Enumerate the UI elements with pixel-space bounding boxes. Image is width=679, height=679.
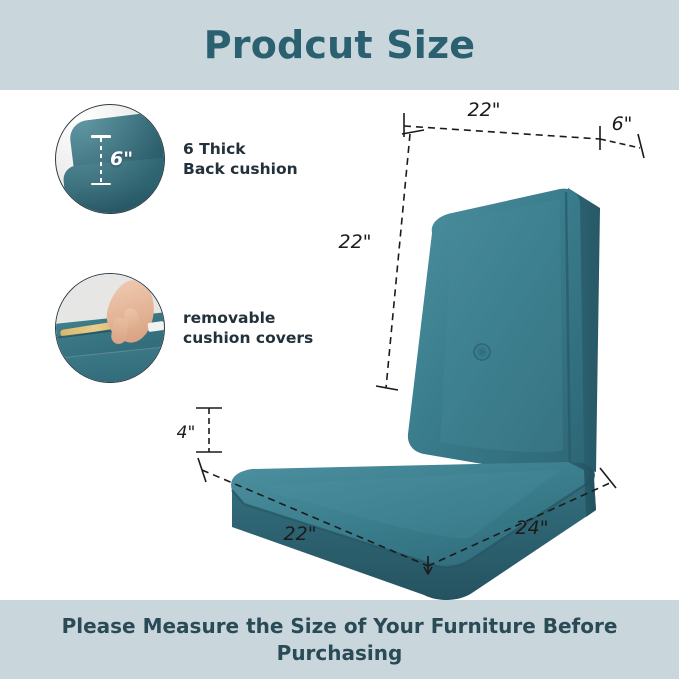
tick-back-height-bottom [376, 386, 398, 390]
dimension-label-seat-thickness: 4" [177, 423, 196, 443]
footer-banner: Please Measure the Size of Your Furnitur… [0, 600, 679, 679]
header-banner: Prodcut Size [0, 0, 679, 90]
dimension-label-back-height: 22" [339, 231, 372, 253]
dimension-label-seat-width: 24" [516, 517, 549, 539]
tick-seat-width-end [600, 468, 616, 488]
leader-back-height [386, 134, 410, 388]
infographic-page: Prodcut Size 6" 6 Thick Back cushion [0, 0, 679, 679]
back-cushion [408, 188, 600, 478]
dimension-label-back-thickness: 6" [612, 113, 633, 135]
tick-back-height-top [402, 130, 424, 134]
back-cushion-highlight [440, 200, 563, 452]
footer-message: Please Measure the Size of Your Furnitur… [0, 613, 679, 667]
page-title: Prodcut Size [204, 26, 476, 64]
leader-back-thickness [600, 139, 640, 148]
leader-back-top-width [404, 126, 600, 139]
product-illustration: 22" 6" 22" 4" 22" 24" [0, 90, 679, 600]
dimension-label-back-top-width: 22" [468, 99, 501, 121]
tick-back-thickness-right [638, 134, 644, 158]
dimension-label-seat-depth: 22" [284, 523, 317, 545]
